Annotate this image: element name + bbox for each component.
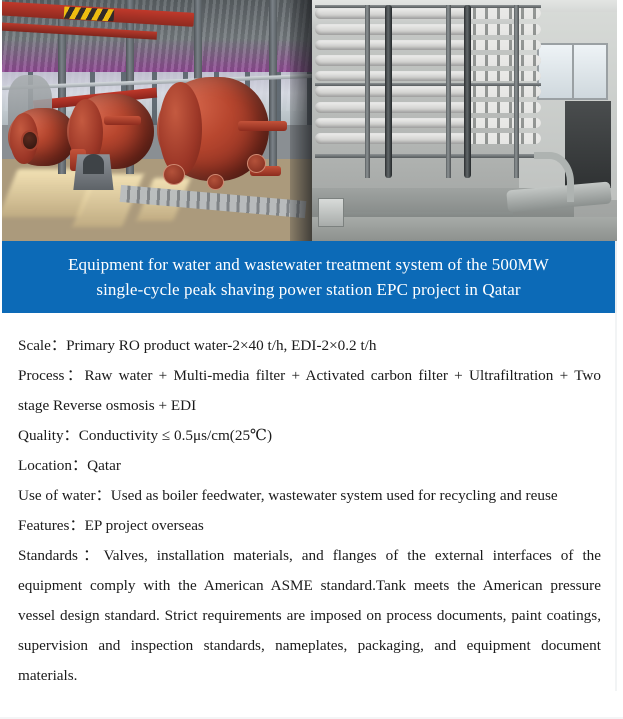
- manway-opening: [21, 130, 39, 151]
- tube-end-caps: [464, 118, 541, 129]
- control-box: [318, 198, 344, 227]
- tube-end-caps: [464, 24, 541, 35]
- vessel-nozzle: [238, 121, 288, 132]
- tube-end-caps: [464, 102, 541, 113]
- rack-post: [365, 5, 370, 179]
- rack-rail: [315, 154, 541, 157]
- ro-membrane-tube-row: [315, 118, 541, 129]
- vessel-head: [159, 82, 202, 176]
- vessel-saddle-support: [83, 154, 105, 173]
- tube-end-caps: [464, 133, 541, 144]
- photo-pressure-vessels: [2, 0, 312, 241]
- rack-post: [446, 5, 451, 179]
- spec-scale: Scale：Primary RO product water-2×40 t/h,…: [18, 331, 601, 361]
- ro-membrane-tube-row: [315, 24, 541, 35]
- tube-end-caps: [464, 71, 541, 82]
- rack-rail: [315, 83, 541, 86]
- spec-use-of-water: Use of water：Used as boiler feedwater, w…: [18, 481, 601, 511]
- spec-features: Features：EP project overseas: [18, 511, 601, 541]
- ro-membrane-tube-row: [315, 55, 541, 66]
- spec-standards: Standards：Valves, installation materials…: [18, 541, 601, 691]
- vessel-flange: [247, 154, 266, 173]
- rack-rail: [315, 5, 541, 8]
- floor: [312, 217, 617, 241]
- project-title-banner: Equipment for water and wastewater treat…: [2, 241, 617, 313]
- spec-process: Process：Raw water + Multi-media filter +…: [18, 361, 601, 421]
- vessel-flange: [207, 174, 225, 190]
- rack-post: [514, 5, 519, 179]
- project-info-card: Equipment for water and wastewater treat…: [0, 0, 623, 719]
- vertical-header-pipe: [385, 5, 392, 179]
- ro-membrane-tube-row: [315, 102, 541, 113]
- project-specifications: Scale：Primary RO product water-2×40 t/h,…: [2, 313, 617, 691]
- ro-membrane-tube-row: [315, 86, 541, 97]
- window: [537, 43, 608, 100]
- ro-membrane-tube-row: [315, 8, 541, 19]
- ro-membrane-tube-row: [315, 133, 541, 144]
- steel-column: [269, 0, 277, 174]
- project-title-line-1: Equipment for water and wastewater treat…: [68, 255, 549, 274]
- photo-strip: [2, 0, 617, 241]
- tube-end-caps: [464, 40, 541, 51]
- ro-skid-rack: [315, 5, 541, 179]
- photo-ro-membrane-skid: [312, 0, 617, 241]
- shadow-edge: [290, 0, 312, 241]
- ro-membrane-tube-row: [315, 40, 541, 51]
- spec-quality: Quality：Conductivity ≤ 0.5μs/cm(25℃): [18, 421, 601, 451]
- tube-end-caps: [464, 8, 541, 19]
- tube-end-caps: [464, 86, 541, 97]
- project-title: Equipment for water and wastewater treat…: [46, 252, 571, 302]
- ro-membrane-tube-row: [315, 71, 541, 82]
- spec-location: Location：Qatar: [18, 451, 601, 481]
- vertical-header-pipe: [464, 5, 471, 179]
- project-title-line-2: single-cycle peak shaving power station …: [96, 280, 520, 299]
- tube-end-caps: [464, 55, 541, 66]
- vessel-nozzle: [104, 116, 141, 126]
